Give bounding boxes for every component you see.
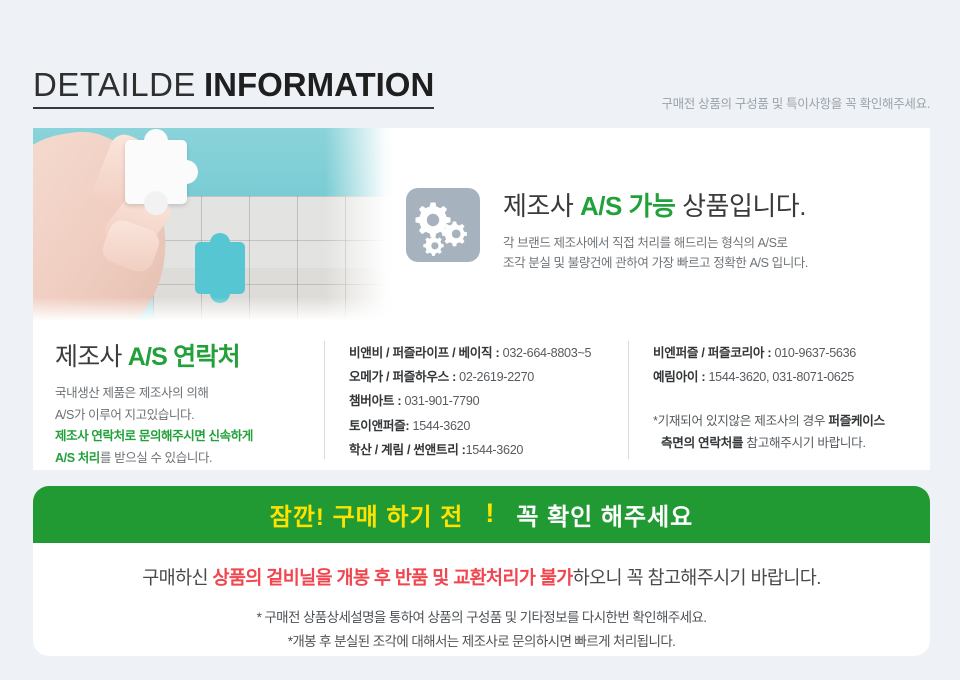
page-title: DETAILDEINFORMATION [33, 66, 434, 109]
contact-name: 예림아이 : [653, 370, 705, 384]
hero-headline-post: 상품입니다. [675, 191, 806, 221]
notice-banner-white: 꼭 확인 해주세요 [516, 497, 693, 532]
contact-name: 토이앤퍼즐: [349, 419, 409, 433]
contacts-desc-green2-tail: 를 받으실 수 있습니다. [100, 451, 212, 465]
notice-main-red: 상품의 겉비닐을 개봉 후 반품 및 교환처리가 불가 [213, 567, 573, 588]
hero-description: 각 브랜드 제조사에서 직접 처리를 해드리는 형식의 A/S로 조각 분실 및… [503, 233, 923, 273]
contact-row: 토이앤퍼즐: 1544-3620 [349, 414, 621, 438]
product-detail-page: DETAILDEINFORMATION 구매전 상품의 구성품 및 특이사항을 … [0, 0, 960, 680]
contact-phone: 02-2619-2270 [456, 370, 534, 384]
header-note: 구매전 상품의 구성품 및 특이사항을 꼭 확인해주세요. [661, 93, 930, 112]
hero-desc-line1: 각 브랜드 제조사에서 직접 처리를 해드리는 형식의 A/S로 [503, 236, 788, 250]
contacts-divider-1 [324, 341, 325, 459]
photo-fade-bottom [33, 297, 395, 323]
page-header: DETAILDEINFORMATION 구매전 상품의 구성품 및 특이사항을 … [33, 66, 930, 114]
contact-name: 챔버아트 : [349, 394, 401, 408]
info-panel: 제조사 A/S 가능 상품입니다. 각 브랜드 제조사에서 직접 처리를 해드리… [33, 128, 930, 470]
contacts-heading-highlight: A/S 연락처 [128, 343, 240, 371]
contact-row: 비엔퍼즐 / 퍼즐코리아 : 010-9637-5636 [653, 341, 923, 365]
notice-sub-text: * 구매전 상품상세설명을 통하여 상품의 구성품 및 기타정보를 다시한번 확… [33, 606, 930, 653]
contacts-intro-text: 국내생산 제품은 제조사의 의해 A/S가 이루어 지고있습니다. 제조사 연락… [55, 383, 323, 469]
notice-main-text: 구매하신 상품의 겉비닐을 개봉 후 반품 및 교환처리가 불가하오니 꼭 참고… [33, 566, 930, 590]
contacts-column-right: 비엔퍼즐 / 퍼즐코리아 : 010-9637-5636 예림아이 : 1544… [653, 341, 923, 455]
hero-headline-pre: 제조사 [503, 191, 580, 221]
contact-row: 예림아이 : 1544-3620, 031-8071-0625 [653, 365, 923, 389]
contacts-note: *기재되어 있지않은 제조사의 경우 퍼즐케이스 측면의 연락처를 참고해주시기… [653, 411, 923, 454]
contacts-heading-pre: 제조사 [55, 343, 128, 371]
contacts-note-bold1: 퍼즐케이스 [828, 414, 884, 428]
contact-phone: 031-901-7790 [401, 394, 479, 408]
photo-missing-piece-hole [195, 242, 245, 294]
contacts-note-pre: *기재되어 있지않은 제조사의 경우 [653, 414, 828, 428]
contacts-column-middle: 비앤비 / 퍼즐라이프 / 베이직 : 032-664-8803~5 오메가 /… [349, 341, 621, 462]
hero-headline: 제조사 A/S 가능 상품입니다. [503, 190, 923, 223]
contact-phone: 1544-3620 [409, 419, 470, 433]
contacts-note-post: 참고해주시기 바랍니다. [743, 436, 865, 450]
hero-headline-block: 제조사 A/S 가능 상품입니다. 각 브랜드 제조사에서 직접 처리를 해드리… [503, 190, 923, 273]
contacts-desc-line1: 국내생산 제품은 제조사의 의해 [55, 386, 209, 400]
contact-row: 학산 / 계림 / 썬앤트리 :1544-3620 [349, 438, 621, 462]
contacts-desc-line2: A/S가 이루어 지고있습니다. [55, 408, 194, 422]
notice-sub-line2: *개봉 후 분실된 조각에 대해서는 제조사로 문의하시면 빠르게 처리됩니다. [288, 634, 676, 649]
notice-body: 구매하신 상품의 겉비닐을 개봉 후 반품 및 교환처리가 불가하오니 꼭 참고… [33, 543, 930, 653]
gears-icon [406, 188, 480, 262]
page-title-bold: INFORMATION [204, 66, 434, 103]
contact-row: 오메가 / 퍼즐하우스 : 02-2619-2270 [349, 365, 621, 389]
contact-phone: 010-9637-5636 [771, 346, 856, 360]
contact-name: 비엔퍼즐 / 퍼즐코리아 : [653, 346, 771, 360]
notice-card: 잠깐! 구매 하기 전 ! 꼭 확인 해주세요 구매하신 상품의 겉비닐을 개봉… [33, 486, 930, 656]
notice-main-post: 하오니 꼭 참고해주시기 바랍니다. [573, 567, 821, 588]
contact-name: 오메가 / 퍼즐하우스 : [349, 370, 456, 384]
contact-name: 비앤비 / 퍼즐라이프 / 베이직 : [349, 346, 499, 360]
hero-desc-line2: 조각 분실 및 불량건에 관하여 가장 빠르고 정확한 A/S 입니다. [503, 256, 808, 270]
piece-knob-bottom [144, 191, 168, 215]
contacts-divider-2 [628, 341, 629, 459]
photo-fade-right [325, 128, 395, 323]
contacts-note-line2: 측면의 연락처를 참고해주시기 바랍니다. [653, 433, 923, 455]
contacts-heading: 제조사 A/S 연락처 [55, 337, 323, 373]
notice-banner-exclamation: ! [485, 500, 494, 527]
contact-phone: 032-664-8803~5 [499, 346, 591, 360]
contacts-section: 제조사 A/S 연락처 국내생산 제품은 제조사의 의해 A/S가 이루어 지고… [33, 333, 930, 470]
notice-banner: 잠깐! 구매 하기 전 ! 꼭 확인 해주세요 [33, 486, 930, 543]
contact-row: 챔버아트 : 031-901-7790 [349, 389, 621, 413]
notice-sub-line1: * 구매전 상품상세설명을 통하여 상품의 구성품 및 기타정보를 다시한번 확… [257, 610, 707, 625]
page-title-light: DETAILDE [33, 66, 196, 103]
photo-puzzle-piece [125, 140, 187, 204]
contacts-intro-column: 제조사 A/S 연락처 국내생산 제품은 제조사의 의해 A/S가 이루어 지고… [55, 337, 323, 469]
puzzle-photo [33, 128, 395, 323]
contacts-note-bold2: 측면의 연락처를 [661, 436, 743, 450]
notice-main-pre: 구매하신 [142, 567, 212, 588]
contact-row: 비앤비 / 퍼즐라이프 / 베이직 : 032-664-8803~5 [349, 341, 621, 365]
piece-knob-right [174, 160, 198, 184]
piece-knob-top [144, 129, 168, 153]
hero-headline-highlight: A/S 가능 [580, 191, 675, 221]
contacts-desc-green2: A/S 처리 [55, 451, 100, 465]
contact-phone: 1544-3620, 031-8071-0625 [705, 370, 854, 384]
contacts-desc-green1: 제조사 연락처로 문의해주시면 신속하게 [55, 429, 253, 443]
contact-name: 학산 / 계림 / 썬앤트리 : [349, 443, 466, 457]
notice-banner-yellow: 잠깐! 구매 하기 전 [270, 497, 464, 532]
contact-phone: 1544-3620 [466, 443, 524, 457]
